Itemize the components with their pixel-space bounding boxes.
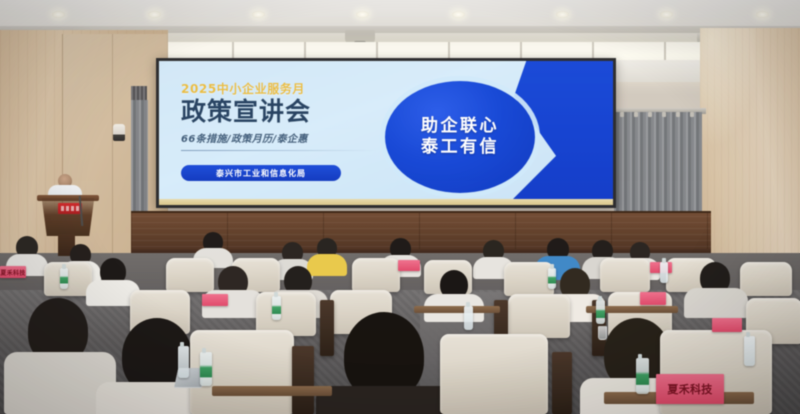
divider-rule [181,150,377,151]
water-bottle [272,296,281,320]
curtain-hook [690,112,694,117]
table-namecard-front: 夏禾科技 [656,374,724,404]
water-bottle [60,268,68,289]
title-block: 2025中小企业服务月 政策宣讲会 66条措施/政策月历/泰企惠 [181,83,396,151]
slogan-line-2: 泰工有信 [421,139,499,156]
curtain-hook [620,112,624,117]
slogan-block: 助企联心 泰工有信 [385,81,535,193]
wall-speaker-icon [113,124,125,141]
conference-photo: 助企联心 泰工有信 2025中小企业服务月 政策宣讲会 66条措施/政策月历/泰… [0,0,800,414]
water-bottle [464,306,473,330]
audience-shoulders [307,254,347,276]
water-bottle [178,346,189,378]
desk [552,352,572,414]
organizer-badge: 泰兴市工业和信息化局 [181,165,341,181]
chair[interactable] [166,258,214,292]
table-namecard: 夏禾科技 [398,260,420,271]
water-bottle [744,336,755,366]
downlight-icon [356,11,369,18]
water-bottle [660,262,668,283]
water-bottle [200,352,212,386]
downlight-icon [452,11,465,18]
wall-light-glow [700,28,760,148]
audience-shoulders [316,386,454,414]
curtain-hook [648,112,652,117]
water-bottle [636,358,649,394]
table-namecard: 夏禾科技 [202,294,228,306]
desk-surface [212,386,332,396]
led-screen-content: 助企联心 泰工有信 2025中小企业服务月 政策宣讲会 66条措施/政策月历/泰… [159,61,613,205]
soffit-right [614,60,704,82]
screen-eyebrow: 2025中小企业服务月 [181,83,396,95]
drinking-glass [598,326,607,340]
chair[interactable] [352,258,400,292]
desk-surface [414,306,500,313]
water-bottle [596,300,605,324]
namecard-front-text: 夏禾科技 [667,381,712,397]
curtain-hook [634,112,638,117]
downlight-icon [52,11,65,18]
downlight-icon [556,11,569,18]
water-bottle [548,268,556,289]
chair[interactable] [740,262,792,296]
namecard-text: 夏禾科技 [0,268,25,277]
wall-panel-seam [112,34,113,262]
led-screen: 助企联心 泰工有信 2025中小企业服务月 政策宣讲会 66条措施/政策月历/泰… [156,58,616,208]
table-namecard: 夏禾科技 [640,292,666,305]
screen-subtitle: 66条措施/政策月历/泰企惠 [181,130,396,145]
screen-title: 政策宣讲会 [181,99,396,125]
downlight-icon [148,11,161,18]
downlight-icon [660,11,673,18]
chair[interactable] [44,262,92,296]
desk [292,346,314,414]
audience-shoulders [684,288,748,318]
chair[interactable] [440,334,548,414]
curtain-hook [676,112,680,117]
organizer-badge-label: 泰兴市工业和信息化局 [216,168,306,179]
chair[interactable] [600,258,650,292]
chair[interactable] [508,294,570,338]
podium-sign [58,203,82,214]
chair[interactable] [504,262,554,296]
downlight-icon [252,11,265,18]
table-namecard: 夏禾科技 [0,266,26,278]
desk [320,300,334,356]
table-namecard: 夏禾科技 [712,318,742,332]
downlight-icon [756,11,769,18]
screen-bottom-strip [159,199,613,205]
curtain-hook [662,112,666,117]
slogan-line-1: 助企联心 [421,118,499,135]
